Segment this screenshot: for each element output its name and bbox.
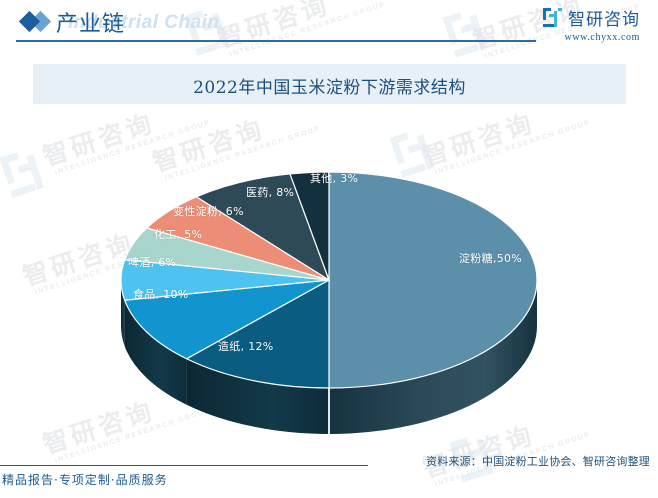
slice-label-yiyao: 医药, 8%: [246, 184, 294, 200]
slice-label-dianfentang: 淀粉糖,50%: [459, 250, 522, 266]
pie-chart-svg: [0, 104, 658, 434]
chart-source: 资料来源：中国淀粉工业协会、智研咨询整理: [426, 453, 650, 469]
slice-label-pijiu: 啤酒, 6%: [128, 254, 176, 270]
brand-url[interactable]: www.chyxx.com: [543, 32, 640, 43]
brand-logo[interactable]: 智研咨询 www.chyxx.com: [543, 5, 640, 43]
slice-label-huagong: 化工, 5%: [154, 226, 202, 242]
pie-chart: 淀粉糖,50% 造纸, 12% 食品, 10% 啤酒, 6% 化工, 5% 变性…: [0, 104, 658, 434]
brand-name: 智研咨询: [568, 5, 640, 30]
slice-label-qita: 其他, 3%: [310, 170, 358, 186]
chart-title-band: 2022年中国玉米淀粉下游需求结构: [33, 64, 626, 104]
footer-divider: [0, 465, 368, 466]
page-header: Industrial Chain 产业链 智研咨询 www.chyxx.com: [0, 0, 658, 46]
footer-tagline: 精品报告·专项定制·品质服务: [2, 471, 168, 488]
slice-label-bianxingdianfen: 变性淀粉, 6%: [173, 203, 244, 219]
chyxx-logo-icon: [543, 8, 562, 27]
section-title-cn: 产业链: [56, 6, 125, 38]
header-divider: [16, 40, 536, 42]
chart-title: 2022年中国玉米淀粉下游需求结构: [33, 73, 626, 98]
slice-label-zaozhi: 造纸, 12%: [218, 338, 274, 354]
slice-label-shipin: 食品, 10%: [133, 286, 189, 302]
